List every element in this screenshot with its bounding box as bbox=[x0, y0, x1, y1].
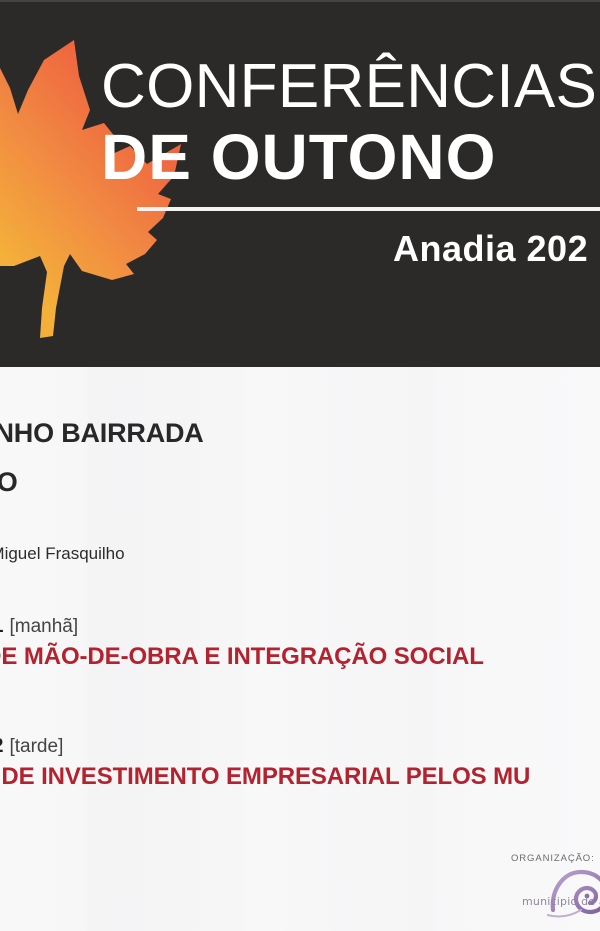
poster-subtitle: Anadia 202 bbox=[393, 228, 588, 270]
session-1-time: [manhã] bbox=[9, 616, 78, 637]
poster-root: CONFERÊNCIAS DE OUTONO Anadia 202 DO VIN… bbox=[0, 0, 600, 931]
session-block-2: cia 2[tarde] ÃO DE INVESTIMENTO EMPRESAR… bbox=[0, 735, 530, 791]
moderator-names: maral e Miguel Frasquilho bbox=[0, 544, 125, 564]
session-2-name: cia 2 bbox=[0, 735, 3, 757]
title-line-1: CONFERÊNCIAS bbox=[101, 56, 600, 118]
session-1-header: cia 1[manhã] bbox=[0, 615, 484, 638]
session-block-1: cia 1[manhã] O DE MÃO-DE-OBRA E INTEGRAÇ… bbox=[0, 615, 484, 671]
organization-name: municipio de anadia bbox=[522, 895, 600, 908]
session-2-time: [tarde] bbox=[9, 736, 63, 757]
poster-title: CONFERÊNCIAS DE OUTONO bbox=[101, 56, 600, 189]
title-line-2: DE OUTONO bbox=[101, 125, 600, 189]
session-2-header: cia 2[tarde] bbox=[0, 735, 530, 758]
date-heading: EMBRO bbox=[0, 467, 18, 498]
body-content: DO VINHO BAIRRADA EMBRO o: maral e Migue… bbox=[0, 367, 600, 931]
spiral-swirl-icon bbox=[547, 866, 600, 918]
organization-block: ORGANIZAÇÃO: bbox=[511, 853, 600, 864]
title-divider-rule bbox=[137, 207, 600, 211]
header-top-hairline bbox=[0, 0, 600, 2]
venue-heading: DO VINHO BAIRRADA bbox=[0, 418, 204, 449]
header-band: CONFERÊNCIAS DE OUTONO Anadia 202 bbox=[0, 0, 600, 367]
session-1-title: O DE MÃO-DE-OBRA E INTEGRAÇÃO SOCIAL bbox=[0, 643, 484, 671]
session-2-title: ÃO DE INVESTIMENTO EMPRESARIAL PELOS MU bbox=[0, 763, 530, 791]
session-1-name: cia 1 bbox=[0, 615, 3, 637]
organization-label: ORGANIZAÇÃO: bbox=[511, 853, 600, 864]
